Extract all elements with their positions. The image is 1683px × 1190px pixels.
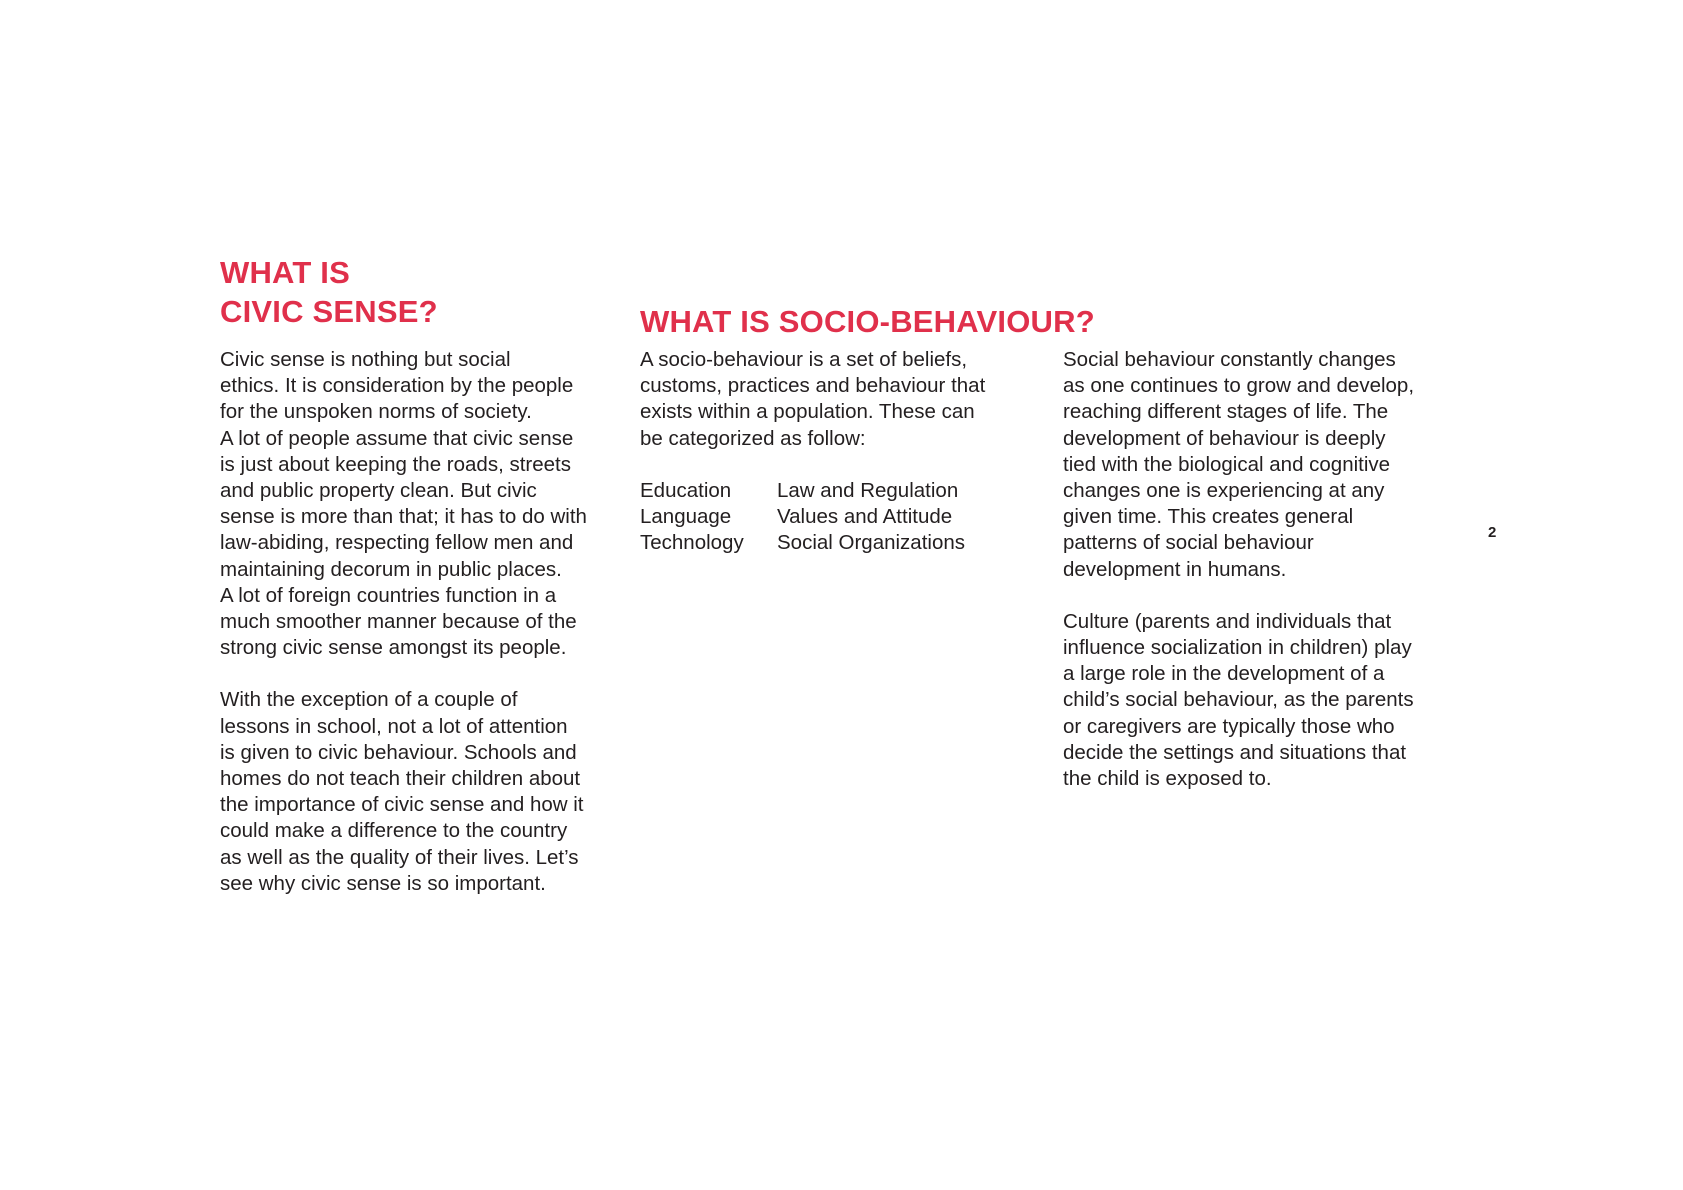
category-column-one: Education Language Technology <box>640 478 777 557</box>
paragraph-socio-behaviour-intro: A socio-behaviour is a set of beliefs, c… <box>640 347 1040 452</box>
category-item-education: Education <box>640 478 777 504</box>
paragraph-social-behaviour-development: Social behaviour constantly changes as o… <box>1063 347 1463 583</box>
heading-what-is-socio-behaviour: WHAT IS SOCIO-BEHAVIOUR? <box>640 302 1400 342</box>
paragraph-civic-sense-definition: Civic sense is nothing but social ethics… <box>220 347 620 661</box>
paragraph-civic-sense-education: With the exception of a couple of lesson… <box>220 687 620 897</box>
column-right: Social behaviour constantly changes as o… <box>1063 347 1463 792</box>
socio-behaviour-category-list: Education Language Technology Law and Re… <box>640 478 1040 557</box>
category-item-language: Language <box>640 504 777 530</box>
category-column-two: Law and Regulation Values and Attitude S… <box>777 478 965 557</box>
paragraph-culture-influence: Culture (parents and individuals that in… <box>1063 609 1463 792</box>
category-item-social-organizations: Social Organizations <box>777 530 965 556</box>
category-item-law-and-regulation: Law and Regulation <box>777 478 965 504</box>
document-page: WHAT IS CIVIC SENSE? WHAT IS SOCIO-BEHAV… <box>0 0 1683 1190</box>
column-middle: A socio-behaviour is a set of beliefs, c… <box>640 347 1040 556</box>
column-left: Civic sense is nothing but social ethics… <box>220 347 620 897</box>
category-item-values-and-attitude: Values and Attitude <box>777 504 965 530</box>
page-number: 2 <box>1488 524 1496 541</box>
heading-what-is-civic-sense: WHAT IS CIVIC SENSE? <box>220 253 620 332</box>
category-item-technology: Technology <box>640 530 777 556</box>
